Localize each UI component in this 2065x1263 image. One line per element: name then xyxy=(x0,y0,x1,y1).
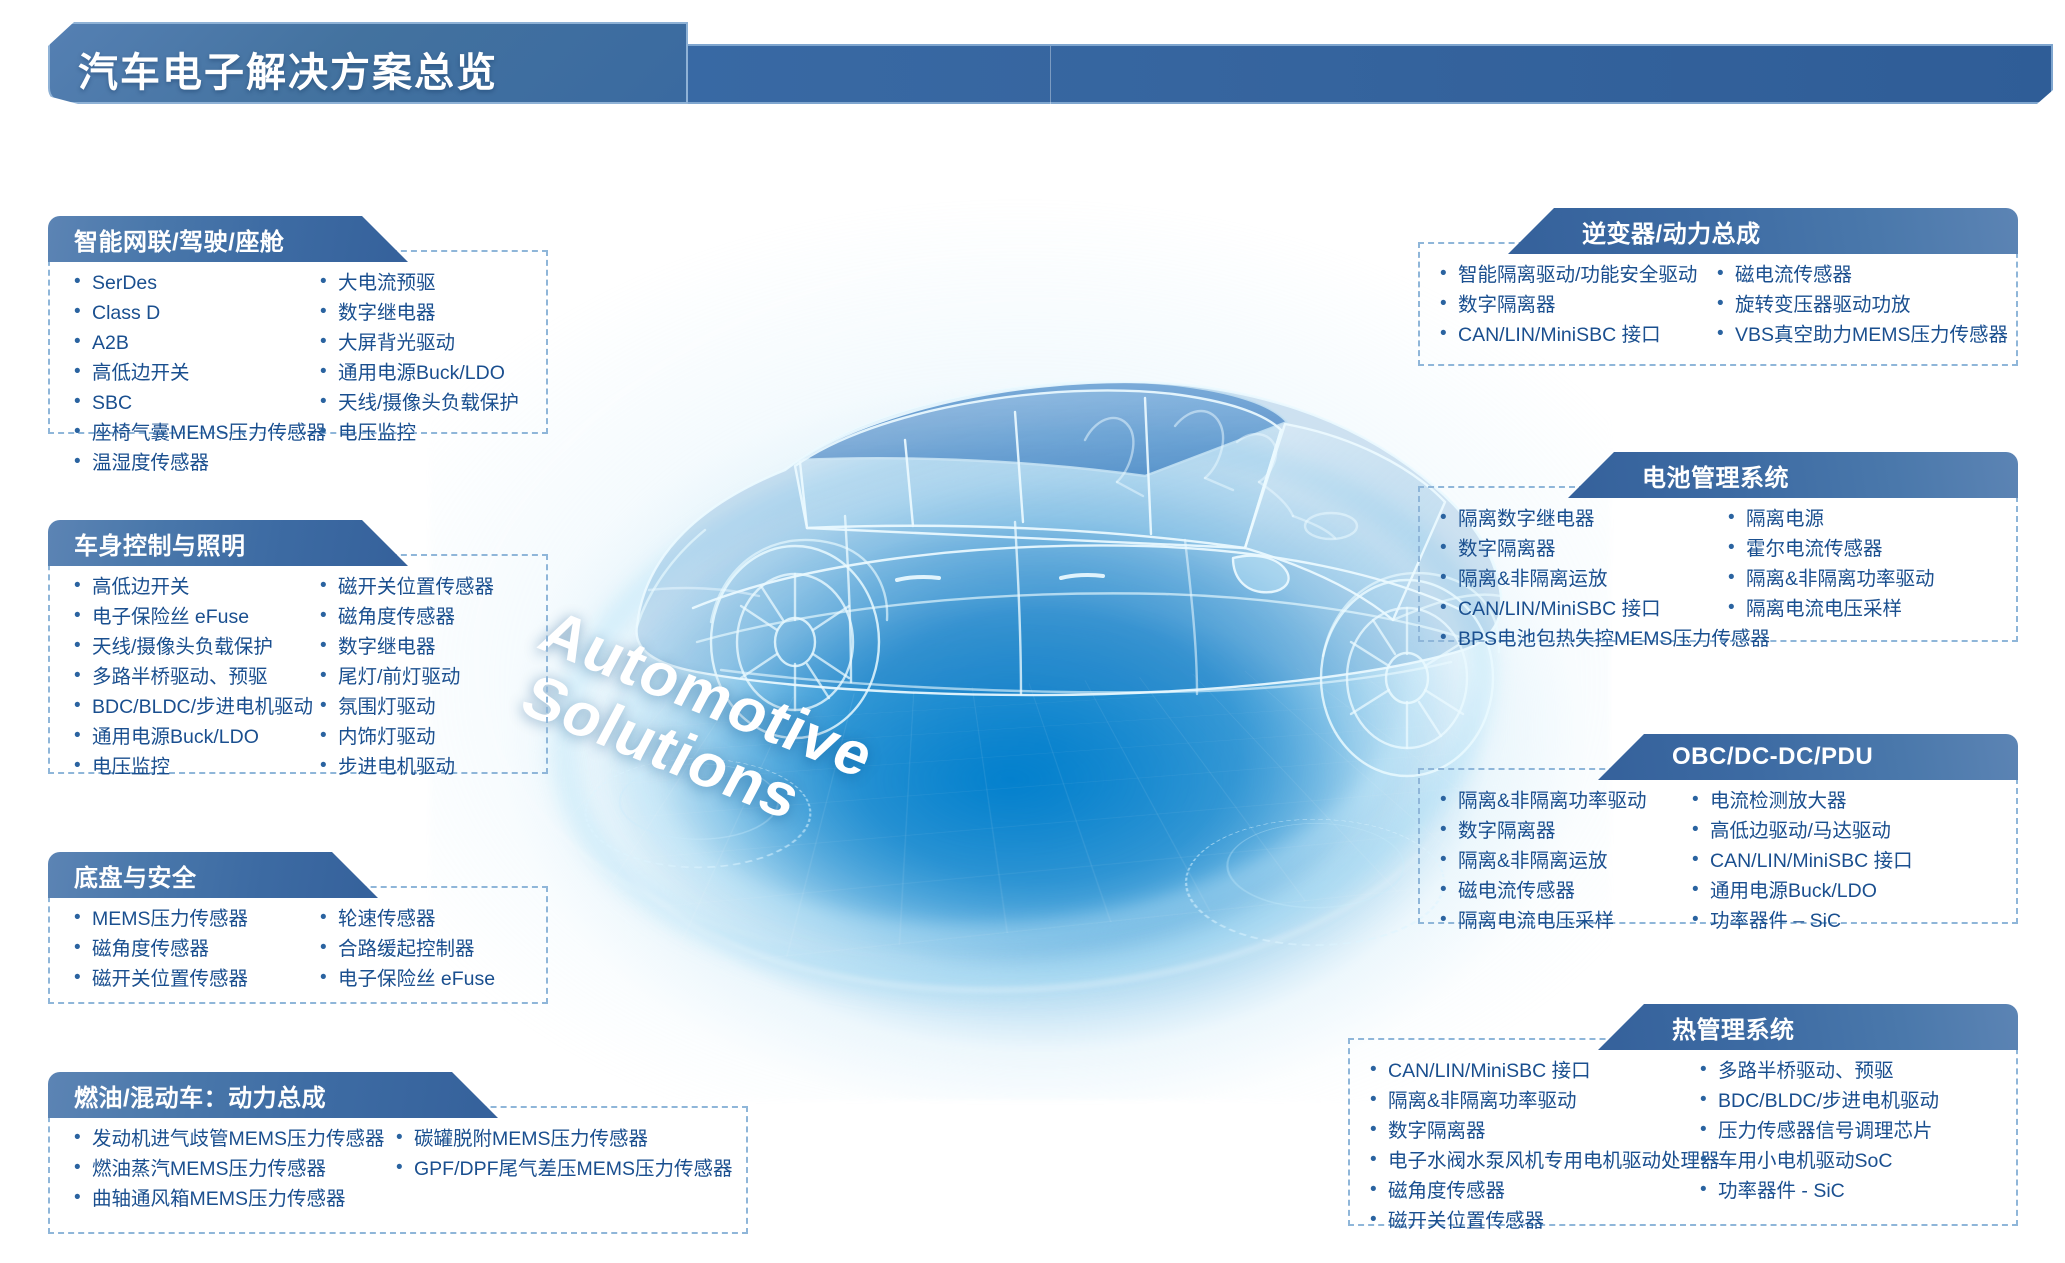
panel-chassis-safety-body: MEMS压力传感器 磁角度传感器 磁开关位置传感器 轮速传感器 合路缓起控制器 … xyxy=(48,886,548,1004)
list-item: 内饰灯驱动 xyxy=(318,722,494,752)
panel-body-control-lighting-list-col2: 磁开关位置传感器 磁角度传感器 数字继电器 尾灯/前灯驱动 氛围灯驱动 内饰灯驱… xyxy=(318,572,494,782)
list-item: 多路半桥驱动、预驱 xyxy=(1698,1056,1939,1086)
panel-chassis-safety-list-col1: MEMS压力传感器 磁角度传感器 磁开关位置传感器 xyxy=(72,904,318,994)
panel-thermal-management-list-col1: CAN/LIN/MiniSBC 接口 隔离&非隔离功率驱动 数字隔离器 电子水阀… xyxy=(1368,1056,1698,1236)
list-item: 数字隔离器 xyxy=(1438,534,1726,564)
panel-inverter-powertrain-title: 逆变器/动力总成 xyxy=(1582,214,1761,249)
list-item: VBS真空助力MEMS压力传感器 xyxy=(1715,320,2008,350)
list-item: 大电流预驱 xyxy=(318,268,519,298)
panel-ice-hybrid-powertrain-header: 燃油/混动车：动力总成 xyxy=(48,1072,498,1118)
panel-chassis-safety-title: 底盘与安全 xyxy=(74,858,197,893)
panel-inverter-powertrain-columns: 智能隔离驱动/功能安全驱动 数字隔离器 CAN/LIN/MiniSBC 接口 磁… xyxy=(1420,244,2016,368)
panel-thermal-management-body: CAN/LIN/MiniSBC 接口 隔离&非隔离功率驱动 数字隔离器 电子水阀… xyxy=(1348,1038,2018,1226)
panel-ice-hybrid-powertrain-body: 发动机进气歧管MEMS压力传感器 燃油蒸汽MEMS压力传感器 曲轴通风箱MEMS… xyxy=(48,1106,748,1234)
list-item: 曲轴通风箱MEMS压力传感器 xyxy=(72,1184,394,1214)
list-item: CAN/LIN/MiniSBC 接口 xyxy=(1438,594,1726,624)
list-item: 磁电流传感器 xyxy=(1715,260,2008,290)
list-item: 高低边开关 xyxy=(72,572,318,602)
list-item: 尾灯/前灯驱动 xyxy=(318,662,494,692)
list-item: 大屏背光驱动 xyxy=(318,328,519,358)
list-item: 隔离数字继电器 xyxy=(1438,504,1726,534)
list-item: 燃油蒸汽MEMS压力传感器 xyxy=(72,1154,394,1184)
list-item: 隔离电流电压采样 xyxy=(1438,906,1690,936)
list-item: 磁电流传感器 xyxy=(1438,876,1690,906)
list-item: 隔离&非隔离运放 xyxy=(1438,846,1690,876)
list-item: 合路缓起控制器 xyxy=(318,934,495,964)
list-item: 旋转变压器驱动功放 xyxy=(1715,290,2008,320)
list-item: 电子水阀水泵风机专用电机驱动处理器 xyxy=(1368,1146,1698,1176)
list-item: 座椅气囊MEMS压力传感器 xyxy=(72,418,318,448)
list-item: 数字继电器 xyxy=(318,298,519,328)
panel-body-control-lighting-title: 车身控制与照明 xyxy=(74,526,246,561)
panel-inverter-powertrain-body: 智能隔离驱动/功能安全驱动 数字隔离器 CAN/LIN/MiniSBC 接口 磁… xyxy=(1418,242,2018,366)
list-item: 电流检测放大器 xyxy=(1690,786,1913,816)
list-item: 隔离电源 xyxy=(1726,504,1935,534)
list-item: 磁开关位置传感器 xyxy=(1368,1206,1698,1236)
panel-body-control-lighting-header: 车身控制与照明 xyxy=(48,520,408,566)
list-item: 多路半桥驱动、预驱 xyxy=(72,662,318,692)
list-item: 隔离&非隔离功率驱动 xyxy=(1726,564,1935,594)
panel-smart-cockpit-list-col2: 大电流预驱 数字继电器 大屏背光驱动 通用电源Buck/LDO 天线/摄像头负载… xyxy=(318,268,519,478)
panel-thermal-management-columns: CAN/LIN/MiniSBC 接口 隔离&非隔离功率驱动 数字隔离器 电子水阀… xyxy=(1350,1040,2016,1254)
list-item: 碳罐脱附MEMS压力传感器 xyxy=(394,1124,733,1154)
panel-battery-management-columns: 隔离数字继电器 数字隔离器 隔离&非隔离运放 CAN/LIN/MiniSBC 接… xyxy=(1420,488,2016,672)
list-item: 轮速传感器 xyxy=(318,904,495,934)
list-item: 发动机进气歧管MEMS压力传感器 xyxy=(72,1124,394,1154)
list-item: 压力传感器信号调理芯片 xyxy=(1698,1116,1939,1146)
panel-smart-cockpit-columns: SerDes Class D A2B 高低边开关 SBC 座椅气囊MEMS压力传… xyxy=(50,252,546,496)
list-item: 智能隔离驱动/功能安全驱动 xyxy=(1438,260,1715,290)
list-item: 霍尔电流传感器 xyxy=(1726,534,1935,564)
panel-chassis-safety-header: 底盘与安全 xyxy=(48,852,378,898)
list-item: 数字隔离器 xyxy=(1438,290,1715,320)
list-item: BPS电池包热失控MEMS压力传感器 xyxy=(1438,624,1726,654)
panel-body-control-lighting-list-col1: 高低边开关 电子保险丝 eFuse 天线/摄像头负载保护 多路半桥驱动、预驱 B… xyxy=(72,572,318,782)
list-item: 高低边驱动/马达驱动 xyxy=(1690,816,1913,846)
list-item: 磁角度传感器 xyxy=(72,934,318,964)
list-item: Class D xyxy=(72,298,318,328)
panel-smart-cockpit-title: 智能网联/驾驶/座舱 xyxy=(74,222,284,257)
panel-obc-dcdc-pdu-list-col2: 电流检测放大器 高低边驱动/马达驱动 CAN/LIN/MiniSBC 接口 通用… xyxy=(1690,786,1913,936)
panel-inverter-powertrain-header: 逆变器/动力总成 xyxy=(1508,208,2018,254)
panel-obc-dcdc-pdu-list-col1: 隔离&非隔离功率驱动 数字隔离器 隔离&非隔离运放 磁电流传感器 隔离电流电压采… xyxy=(1438,786,1690,936)
panel-battery-management-body: 隔离数字继电器 数字隔离器 隔离&非隔离运放 CAN/LIN/MiniSBC 接… xyxy=(1418,486,2018,642)
list-item: 数字隔离器 xyxy=(1368,1116,1698,1146)
panel-obc-dcdc-pdu-columns: 隔离&非隔离功率驱动 数字隔离器 隔离&非隔离运放 磁电流传感器 隔离电流电压采… xyxy=(1420,770,2016,954)
panel-thermal-management-list-col2: 多路半桥驱动、预驱 BDC/BLDC/步进电机驱动 压力传感器信号调理芯片 车用… xyxy=(1698,1056,1939,1236)
slide-canvas: Automotive Solutions 汽车电子解决方案总览 SerDes C… xyxy=(0,0,2065,1263)
panel-body-control-lighting-body: 高低边开关 电子保险丝 eFuse 天线/摄像头负载保护 多路半桥驱动、预驱 B… xyxy=(48,554,548,774)
panel-chassis-safety-list-col2: 轮速传感器 合路缓起控制器 电子保险丝 eFuse xyxy=(318,904,495,994)
panel-thermal-management-title: 热管理系统 xyxy=(1672,1010,1795,1045)
list-item: 隔离&非隔离功率驱动 xyxy=(1438,786,1690,816)
list-item: 电压监控 xyxy=(72,752,318,782)
panel-inverter-powertrain-list-col1: 智能隔离驱动/功能安全驱动 数字隔离器 CAN/LIN/MiniSBC 接口 xyxy=(1438,260,1715,350)
list-item: SBC xyxy=(72,388,318,418)
list-item: CAN/LIN/MiniSBC 接口 xyxy=(1438,320,1715,350)
panel-chassis-safety-columns: MEMS压力传感器 磁角度传感器 磁开关位置传感器 轮速传感器 合路缓起控制器 … xyxy=(50,888,546,1012)
list-item: BDC/BLDC/步进电机驱动 xyxy=(72,692,318,722)
panel-obc-dcdc-pdu-body: 隔离&非隔离功率驱动 数字隔离器 隔离&非隔离运放 磁电流传感器 隔离电流电压采… xyxy=(1418,768,2018,924)
list-item: 电子保险丝 eFuse xyxy=(72,602,318,632)
list-item: 隔离&非隔离功率驱动 xyxy=(1368,1086,1698,1116)
list-item: 磁角度传感器 xyxy=(1368,1176,1698,1206)
panel-inverter-powertrain-list-col2: 磁电流传感器 旋转变压器驱动功放 VBS真空助力MEMS压力传感器 xyxy=(1715,260,2008,350)
list-item: 功率器件 - SiC xyxy=(1698,1176,1939,1206)
banner-divider xyxy=(1050,46,1051,104)
list-item: 天线/摄像头负载保护 xyxy=(72,632,318,662)
list-item: 磁开关位置传感器 xyxy=(72,964,318,994)
list-item: A2B xyxy=(72,328,318,358)
list-item: 步进电机驱动 xyxy=(318,752,494,782)
panel-ice-hybrid-powertrain-title: 燃油/混动车：动力总成 xyxy=(74,1078,326,1113)
list-item: 通用电源Buck/LDO xyxy=(1690,876,1913,906)
list-item: GPF/DPF尾气差压MEMS压力传感器 xyxy=(394,1154,733,1184)
list-item: 磁角度传感器 xyxy=(318,602,494,632)
panel-obc-dcdc-pdu-title: OBC/DC-DC/PDU xyxy=(1672,743,1873,771)
list-item: 隔离&非隔离运放 xyxy=(1438,564,1726,594)
panel-battery-management-title: 电池管理系统 xyxy=(1642,458,1789,493)
panel-smart-cockpit-body: SerDes Class D A2B 高低边开关 SBC 座椅气囊MEMS压力传… xyxy=(48,250,548,434)
list-item: 电压监控 xyxy=(318,418,519,448)
list-item: 数字隔离器 xyxy=(1438,816,1690,846)
panel-battery-management-list-col1: 隔离数字继电器 数字隔离器 隔离&非隔离运放 CAN/LIN/MiniSBC 接… xyxy=(1438,504,1726,654)
panel-thermal-management-header: 热管理系统 xyxy=(1598,1004,2018,1050)
panel-ice-hybrid-powertrain-list-col1: 发动机进气歧管MEMS压力传感器 燃油蒸汽MEMS压力传感器 曲轴通风箱MEMS… xyxy=(72,1124,394,1214)
panel-body-control-lighting-columns: 高低边开关 电子保险丝 eFuse 天线/摄像头负载保护 多路半桥驱动、预驱 B… xyxy=(50,556,546,800)
panel-smart-cockpit-list-col1: SerDes Class D A2B 高低边开关 SBC 座椅气囊MEMS压力传… xyxy=(72,268,318,478)
list-item: 温湿度传感器 xyxy=(72,448,318,478)
list-item: 高低边开关 xyxy=(72,358,318,388)
panel-battery-management-header: 电池管理系统 xyxy=(1568,452,2018,498)
list-item: 通用电源Buck/LDO xyxy=(318,358,519,388)
list-item: 通用电源Buck/LDO xyxy=(72,722,318,752)
list-item: CAN/LIN/MiniSBC 接口 xyxy=(1368,1056,1698,1086)
list-item: 氛围灯驱动 xyxy=(318,692,494,722)
list-item: MEMS压力传感器 xyxy=(72,904,318,934)
list-item: SerDes xyxy=(72,268,318,298)
list-item: 功率器件 – SiC xyxy=(1690,906,1913,936)
panel-smart-cockpit-header: 智能网联/驾驶/座舱 xyxy=(48,216,408,262)
list-item: 车用小电机驱动SoC xyxy=(1698,1146,1939,1176)
list-item: 隔离电流电压采样 xyxy=(1726,594,1935,624)
list-item: CAN/LIN/MiniSBC 接口 xyxy=(1690,846,1913,876)
list-item: 磁开关位置传感器 xyxy=(318,572,494,602)
panel-ice-hybrid-powertrain-list-col2: 碳罐脱附MEMS压力传感器 GPF/DPF尾气差压MEMS压力传感器 xyxy=(394,1124,733,1214)
panel-ice-hybrid-powertrain-columns: 发动机进气歧管MEMS压力传感器 燃油蒸汽MEMS压力传感器 曲轴通风箱MEMS… xyxy=(50,1108,746,1232)
list-item: BDC/BLDC/步进电机驱动 xyxy=(1698,1086,1939,1116)
page-banner: 汽车电子解决方案总览 xyxy=(10,18,2055,106)
panel-obc-dcdc-pdu-header: OBC/DC-DC/PDU xyxy=(1598,734,2018,780)
list-item: 电子保险丝 eFuse xyxy=(318,964,495,994)
list-item: 数字继电器 xyxy=(318,632,494,662)
page-title: 汽车电子解决方案总览 xyxy=(78,40,498,98)
list-item: 天线/摄像头负载保护 xyxy=(318,388,519,418)
